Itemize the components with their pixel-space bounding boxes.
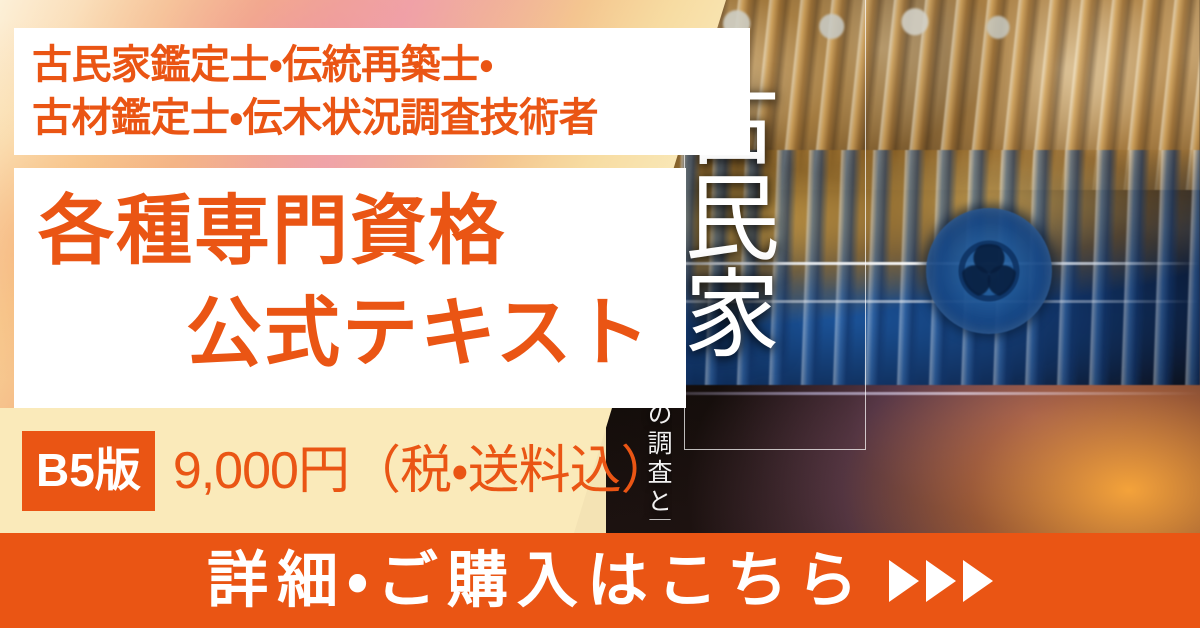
cta-label: 詳細・ご購入はこちら — [207, 550, 867, 611]
size-badge: B5版 — [22, 431, 155, 511]
qualification-line-1: 古民家鑑定士・伝統再築士・ — [32, 39, 750, 92]
triangle-right-icon — [926, 560, 956, 602]
cta-bar-button[interactable]: 詳細・ご購入はこちら — [0, 533, 1200, 628]
promo-banner: 伝統構法 古民家活用のための調査と再生の 古民家 古民家鑑定士・伝統再築士・ 古… — [0, 0, 1200, 628]
cta-arrow-group — [889, 560, 993, 602]
price-row: B5版 9,000円（税・送料込） — [0, 408, 726, 533]
headline-card: 各種専門資格 公式テキスト — [14, 168, 686, 408]
headline-line-1: 各種専門資格 — [38, 194, 506, 270]
price-amount: 9,000円（税・送料込） — [173, 445, 672, 497]
qualification-line-2: 古材鑑定士・伝木状況調査技術者 — [32, 92, 750, 145]
qualification-card: 古民家鑑定士・伝統再築士・ 古材鑑定士・伝木状況調査技術者 — [14, 28, 750, 155]
headline-line-2: 公式テキスト — [186, 296, 652, 372]
triangle-right-icon — [889, 560, 919, 602]
family-crest-roof-tile-icon — [926, 208, 1052, 334]
triangle-right-icon — [963, 560, 993, 602]
